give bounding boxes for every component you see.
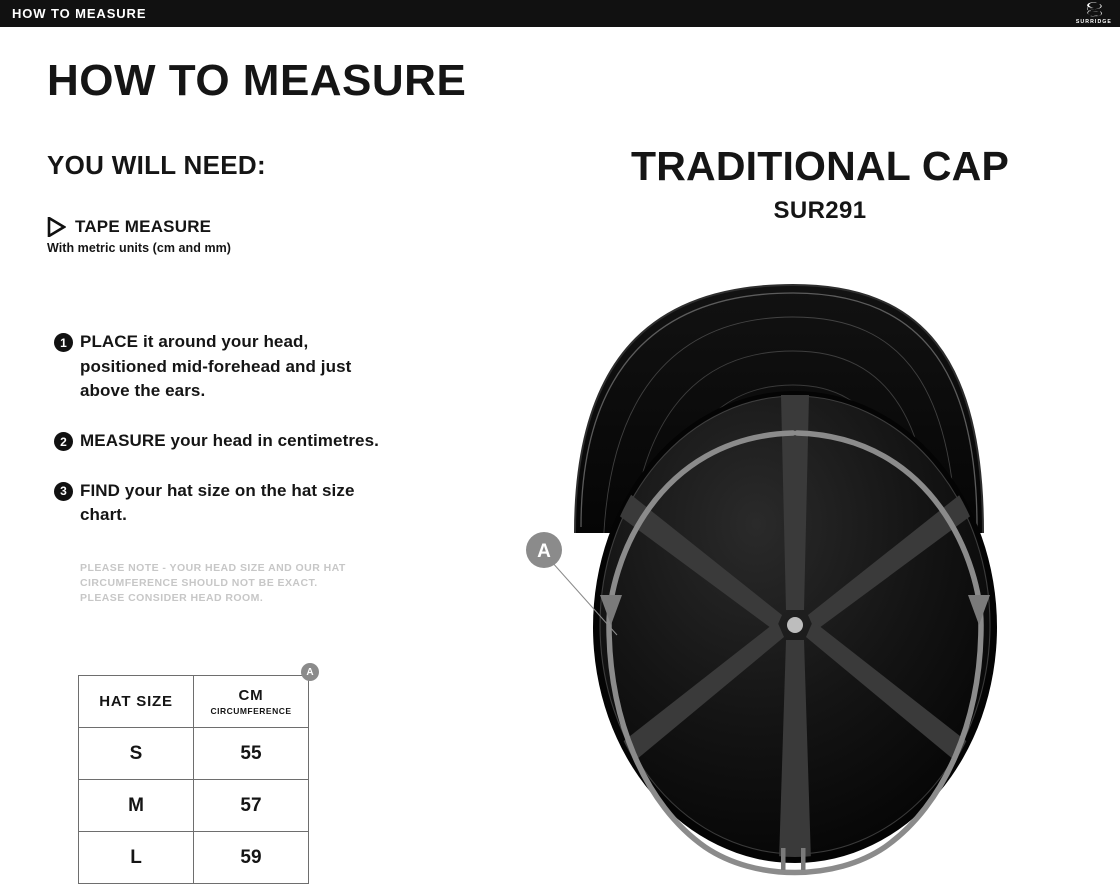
tape-measure-subtext: With metric units (cm and mm) — [47, 241, 567, 255]
cap-diagram: A — [505, 265, 1065, 885]
triangle-right-icon — [47, 217, 66, 237]
step-item: 2 MEASURE your head in centimetres. — [54, 429, 567, 454]
step-number-badge: 3 — [54, 482, 73, 501]
brand-name: SURRIDGE — [1076, 20, 1112, 25]
header-hat-size-label: HAT SIZE — [80, 693, 192, 710]
surridge-s-logo-icon — [1083, 2, 1105, 19]
cell-cm: 59 — [194, 832, 309, 884]
right-column: TRADITIONAL CAP SUR291 — [540, 145, 1100, 225]
table-row: L 59 — [79, 832, 309, 884]
step-text: PLACE it around your head, positioned mi… — [80, 330, 400, 404]
tape-measure-item: TAPE MEASURE — [47, 217, 567, 237]
table-row: S 55 — [79, 728, 309, 780]
step-item: 1 PLACE it around your head, positioned … — [54, 330, 567, 404]
measure-tick-right — [801, 848, 806, 870]
cell-hat-size: L — [79, 832, 194, 884]
tape-measure-label: TAPE MEASURE — [75, 217, 211, 237]
table-header-row: HAT SIZE CM CIRCUMFERENCE A — [79, 676, 309, 728]
step-text: FIND your hat size on the hat size chart… — [80, 479, 400, 528]
top-bar-title: HOW TO MEASURE — [12, 6, 146, 21]
step-item: 3 FIND your hat size on the hat size cha… — [54, 479, 567, 528]
note-line: PLEASE NOTE - YOUR HEAD SIZE AND OUR HAT — [80, 561, 567, 576]
table-row: M 57 — [79, 780, 309, 832]
cap-centre-button-icon — [787, 617, 803, 633]
left-column: HOW TO MEASURE YOU WILL NEED: TAPE MEASU… — [47, 58, 567, 606]
header-cm: CM CIRCUMFERENCE A — [194, 676, 309, 728]
cell-hat-size: S — [79, 728, 194, 780]
measure-tick-left — [781, 848, 786, 870]
cell-cm: 57 — [194, 780, 309, 832]
header-hat-size: HAT SIZE — [79, 676, 194, 728]
top-bar: HOW TO MEASURE SURRIDGE — [0, 0, 1120, 27]
note-line: CIRCUMFERENCE SHOULD NOT BE EXACT. — [80, 576, 567, 591]
brand-logo: SURRIDGE — [1076, 2, 1112, 25]
header-cm-label: CM — [195, 687, 307, 704]
callout-badge-label: A — [537, 541, 551, 562]
steps-list: 1 PLACE it around your head, positioned … — [54, 330, 567, 528]
please-note-text: PLEASE NOTE - YOUR HEAD SIZE AND OUR HAT… — [80, 561, 567, 606]
page-title: HOW TO MEASURE — [47, 58, 567, 104]
callout-badge-a: A — [301, 663, 319, 681]
cell-hat-size: M — [79, 780, 194, 832]
header-cm-sublabel: CIRCUMFERENCE — [195, 706, 307, 716]
step-text: MEASURE your head in centimetres. — [80, 429, 379, 454]
you-will-need-heading: YOU WILL NEED: — [47, 150, 567, 181]
step-number-badge: 2 — [54, 432, 73, 451]
cap-illustration: A — [505, 265, 1065, 885]
cell-cm: 55 — [194, 728, 309, 780]
product-code: SUR291 — [540, 197, 1100, 225]
hat-size-chart: HAT SIZE CM CIRCUMFERENCE A S 55 M 57 L … — [78, 675, 309, 884]
note-line: PLEASE CONSIDER HEAD ROOM. — [80, 591, 567, 606]
step-number-badge: 1 — [54, 333, 73, 352]
product-title: TRADITIONAL CAP — [540, 145, 1100, 188]
